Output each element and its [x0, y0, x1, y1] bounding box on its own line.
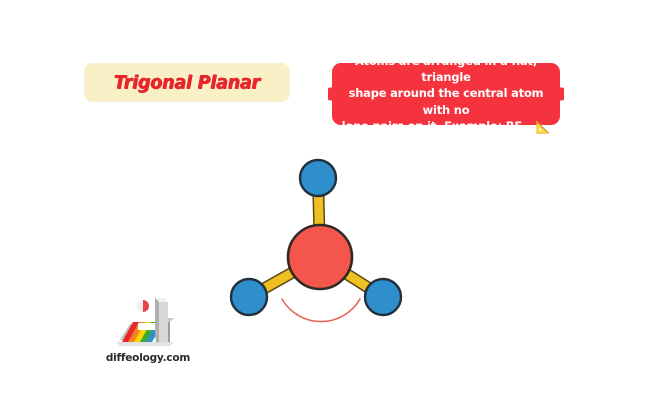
triangular-ruler-icon: 📐: [536, 120, 551, 134]
site-logo[interactable]: diffeology.com: [100, 296, 196, 378]
poster-canvas: Trigonal Planar Atoms are arranged in a …: [0, 0, 648, 420]
formula-subscript: 3: [522, 124, 528, 134]
description-callout: Atoms are arranged in a flat, triangle s…: [332, 63, 560, 125]
diffeology-rainbow-d-logo-icon: [112, 296, 178, 350]
title-badge: Trigonal Planar: [84, 63, 290, 102]
outer-atom-bottom-left: [231, 279, 267, 315]
description-text: Atoms are arranged in a flat, triangle s…: [341, 53, 551, 136]
page-title: Trigonal Planar: [114, 72, 260, 93]
description-line-3-suffix: .: [528, 119, 532, 133]
central-atom: [288, 225, 352, 289]
logo-wordmark: diffeology.com: [100, 352, 196, 364]
outer-atom-top: [300, 160, 336, 196]
trigonal-planar-molecule-diagram: [210, 140, 440, 330]
bond-angle-arc: [282, 299, 360, 322]
description-line-2: shape around the central atom with no: [349, 86, 544, 116]
outer-atom-bottom-right: [365, 279, 401, 315]
description-line-1: Atoms are arranged in a flat, triangle: [355, 54, 537, 84]
description-line-3-prefix: lone pairs on it. Example: BF: [342, 119, 522, 133]
